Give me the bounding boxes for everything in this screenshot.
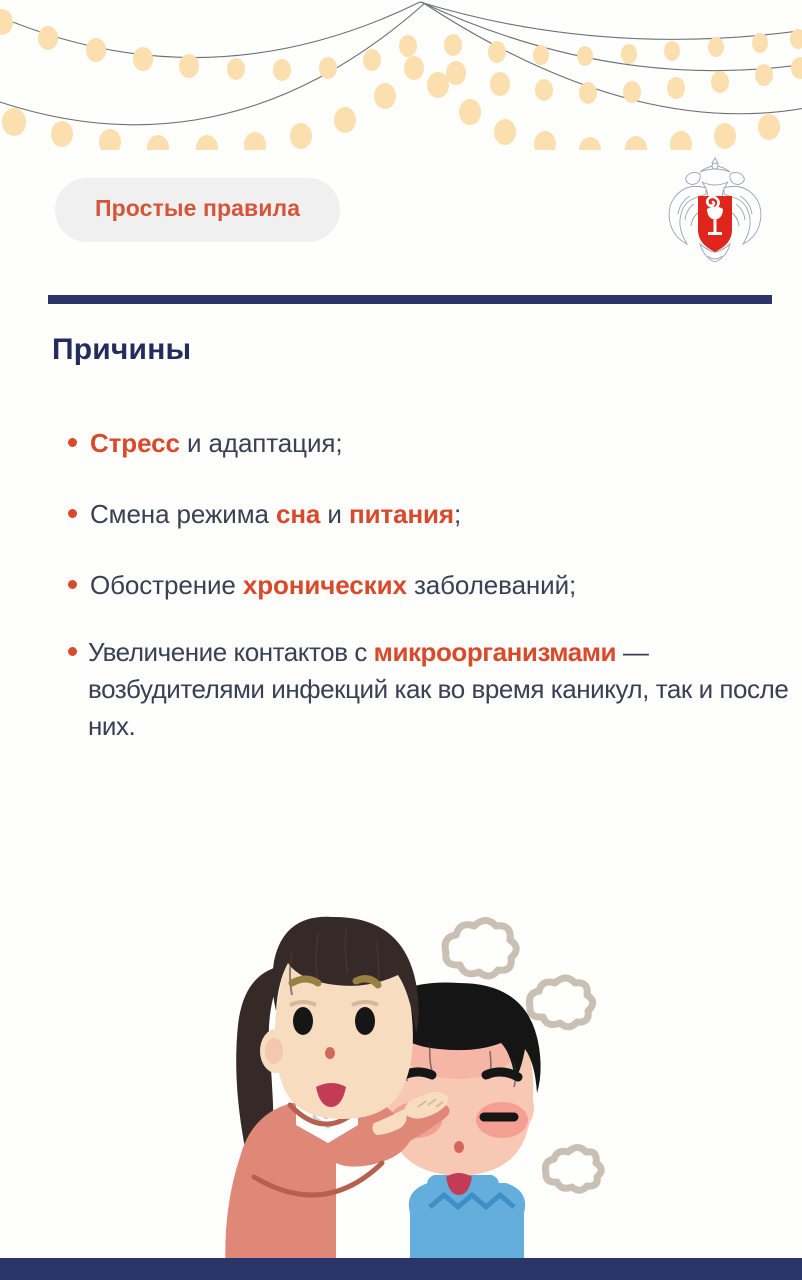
header: Простые правила <box>0 160 802 270</box>
title-badge[interactable]: Простые правила <box>55 178 340 242</box>
list-item: Обострение хронических заболеваний; <box>62 567 792 604</box>
page-title: Причины <box>52 333 191 367</box>
list-item: Увеличение контактов с микроорганизмами … <box>62 634 792 745</box>
body-text: Увеличение контактов с <box>88 637 374 667</box>
rospotrebnadzor-emblem-icon <box>660 152 770 272</box>
body-text: и адаптация; <box>180 428 343 458</box>
body-text: Обострение <box>90 570 243 600</box>
highlighted-term: Стресс <box>90 428 180 458</box>
string-lights-garland <box>0 0 802 150</box>
highlighted-term: микроорганизмами <box>374 637 616 667</box>
list-item: Стресс и адаптация; <box>62 425 792 462</box>
causes-list: Стресс и адаптация; Смена режима сна и п… <box>62 425 792 778</box>
body-text: и <box>320 499 349 529</box>
highlighted-term: сна <box>276 499 320 529</box>
highlighted-term: хронических <box>243 570 407 600</box>
body-text: ; <box>454 499 461 529</box>
section-divider <box>48 295 772 304</box>
list-item: Смена режима сна и питания; <box>62 496 792 533</box>
title-badge-label: Простые правила <box>95 195 300 221</box>
body-text: заболеваний; <box>407 570 576 600</box>
body-text: Смена режима <box>90 499 276 529</box>
infographic-page: Простые правила <box>0 0 802 1280</box>
mother-checking-sick-boy-illustration <box>178 855 628 1280</box>
footer-bar <box>0 1258 802 1280</box>
highlighted-term: питания <box>349 499 454 529</box>
